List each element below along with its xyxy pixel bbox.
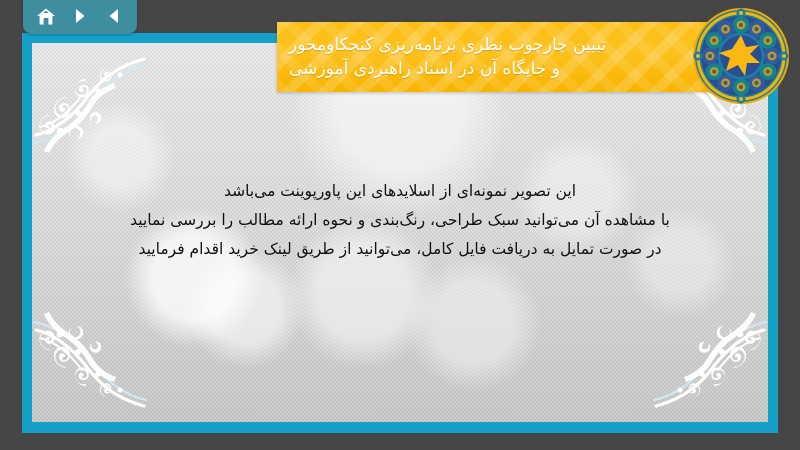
- slide-frame: این تصویر نمونه‌ای از اسلایدهای این پاور…: [22, 33, 778, 433]
- body-line-2: با مشاهده آن می‌توانید سبک طراحی، رنگ‌بن…: [130, 208, 670, 233]
- slide-title-banner: تبیین چارچوب نظری برنامه‌ریزی کنجکاومحور…: [277, 22, 732, 92]
- arabesque-corner-icon: [32, 304, 150, 422]
- slide-canvas: این تصویر نمونه‌ای از اسلایدهای این پاور…: [32, 43, 768, 422]
- back-button[interactable]: [100, 3, 128, 29]
- slide-body-text: این تصویر نمونه‌ای از اسلایدهای این پاور…: [82, 179, 718, 262]
- body-line-1: این تصویر نمونه‌ای از اسلایدهای این پاور…: [224, 179, 576, 204]
- triangle-left-icon: [105, 7, 123, 25]
- slide-title-line-2: و جایگاه آن در اسناد راهبردی آموزشی: [289, 57, 560, 81]
- arabesque-corner-icon: [32, 43, 150, 161]
- home-icon: [36, 7, 56, 26]
- home-button[interactable]: [32, 3, 60, 29]
- body-line-3: در صورت تمایل به دریافت فایل کامل، می‌تو…: [138, 237, 661, 262]
- arabesque-corner-icon: [650, 304, 768, 422]
- slide-title-line-1: تبیین چارچوب نظری برنامه‌ریزی کنجکاومحور: [289, 33, 606, 57]
- slide-navigation-bar: [23, 0, 137, 34]
- slide-viewer: این تصویر نمونه‌ای از اسلایدهای این پاور…: [0, 0, 800, 450]
- forward-button[interactable]: [66, 3, 94, 29]
- triangle-right-icon: [71, 7, 89, 25]
